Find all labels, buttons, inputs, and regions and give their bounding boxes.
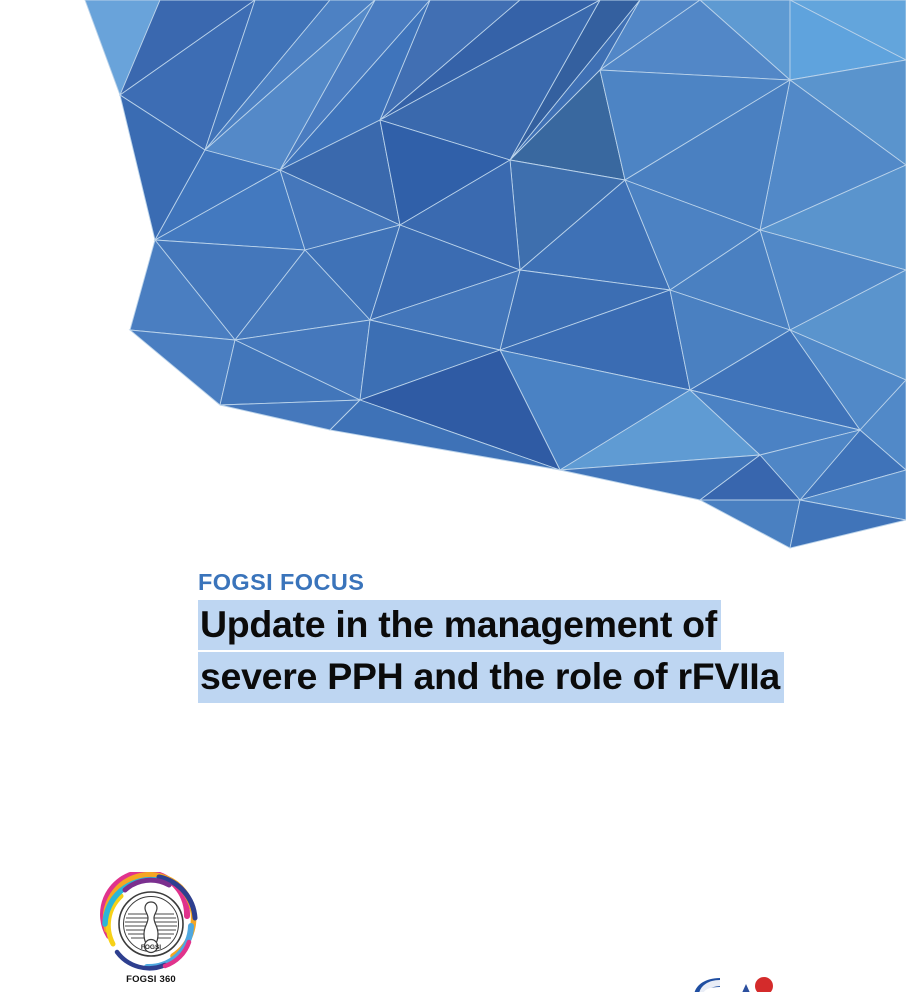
dot-icon bbox=[755, 977, 773, 992]
fogsi-logo-caption: FOGSI 360 bbox=[95, 974, 207, 985]
page-title: Update in the management of severe PPH a… bbox=[198, 600, 838, 703]
low-poly-cover-artwork bbox=[0, 0, 906, 560]
partner-brand-logo bbox=[690, 974, 780, 992]
fogsi-360-logo: FOGSI FOGSI 360 bbox=[95, 872, 207, 992]
cover-page: FOGSI FOCUS Update in the management of … bbox=[0, 0, 906, 992]
series-eyebrow-label: FOGSI FOCUS bbox=[198, 571, 838, 595]
page-title-line-2: severe PPH and the role of rFVIIa bbox=[198, 652, 784, 703]
fogsi-seal-emblem: FOGSI bbox=[95, 872, 207, 976]
svg-text:FOGSI: FOGSI bbox=[141, 944, 161, 951]
triangle-icon bbox=[736, 984, 756, 992]
page-title-line-1: Update in the management of bbox=[198, 600, 721, 651]
title-block: FOGSI FOCUS Update in the management of … bbox=[198, 571, 838, 703]
